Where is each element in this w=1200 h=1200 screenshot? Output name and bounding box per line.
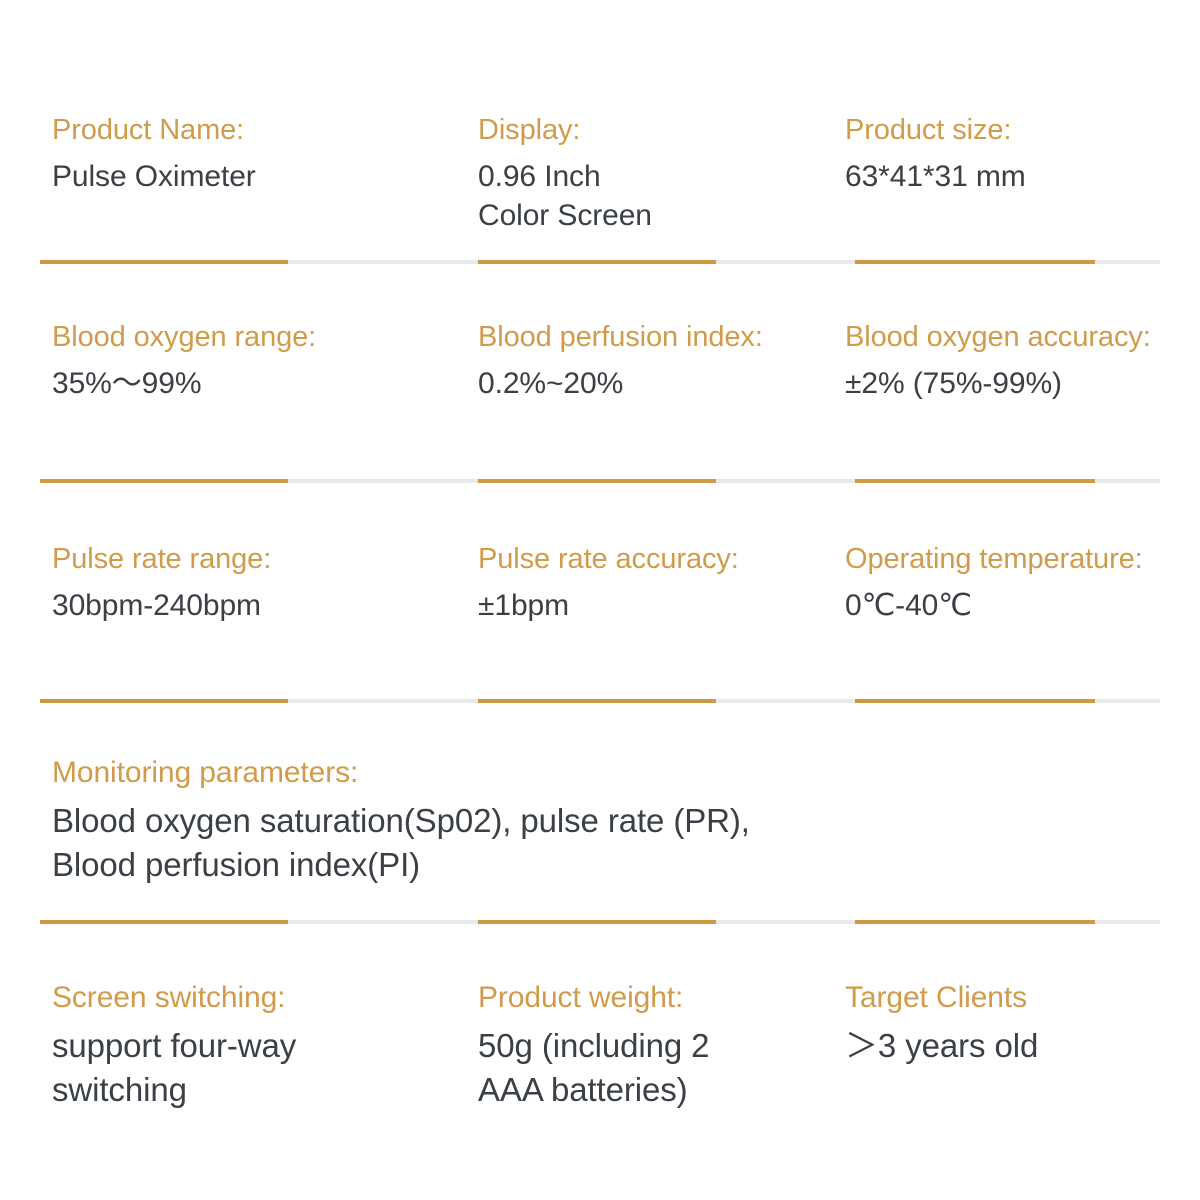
- spec-label: Pulse rate range:: [52, 541, 466, 579]
- spec-label: Pulse rate accuracy:: [478, 541, 833, 579]
- spec-row: Monitoring parameters: Blood oxygen satu…: [40, 703, 1160, 920]
- spec-cell-pulse-rate-accuracy: Pulse rate accuracy: ±1bpm: [466, 541, 833, 699]
- spec-value: 50g (including 2 AAA batteries): [478, 1024, 833, 1111]
- spec-value: support four-way switching: [52, 1024, 466, 1111]
- spec-value: 63*41*31 mm: [845, 157, 1160, 197]
- spec-value: 30bpm-240bpm: [52, 586, 466, 626]
- spec-cell-product-weight: Product weight: 50g (including 2 AAA bat…: [466, 978, 833, 1138]
- spec-label: Product size:: [845, 112, 1160, 150]
- spec-row: Screen switching: support four-way switc…: [40, 924, 1160, 1138]
- spec-label: Product weight:: [478, 978, 833, 1017]
- spec-cell-blood-perfusion-index: Blood perfusion index: 0.2%~20%: [466, 319, 833, 479]
- spec-value: Blood oxygen saturation(Sp02), pulse rat…: [52, 799, 1160, 886]
- spec-cell-blood-oxygen-range: Blood oxygen range: 35%～99%: [40, 319, 466, 479]
- spec-label: Product Name:: [52, 112, 466, 150]
- spec-label: Operating temperature:: [845, 541, 1160, 579]
- spec-cell-product-size: Product size: 63*41*31 mm: [833, 112, 1160, 260]
- spec-value: 0.2%~20%: [478, 364, 833, 404]
- spec-cell-operating-temperature: Operating temperature: 0℃-40℃: [833, 541, 1160, 699]
- spec-value: ＞3 years old: [845, 1024, 1160, 1068]
- product-specification-sheet: Product Name: Pulse Oximeter Display: 0.…: [0, 0, 1200, 1200]
- spec-value: ±1bpm: [478, 586, 833, 626]
- spec-cell-screen-switching: Screen switching: support four-way switc…: [40, 978, 466, 1138]
- spec-label: Blood oxygen range:: [52, 319, 466, 357]
- spec-label: Monitoring parameters:: [52, 753, 1160, 792]
- spec-value: 35%～99%: [52, 364, 466, 404]
- spec-row: Product Name: Pulse Oximeter Display: 0.…: [40, 0, 1160, 260]
- spec-value: ±2% (75%-99%): [845, 364, 1160, 404]
- spec-cell-pulse-rate-range: Pulse rate range: 30bpm-240bpm: [40, 541, 466, 699]
- spec-value: 0.96 Inch Color Screen: [478, 157, 833, 236]
- spec-cell-monitoring-parameters: Monitoring parameters: Blood oxygen satu…: [40, 753, 1160, 886]
- spec-cell-product-name: Product Name: Pulse Oximeter: [40, 112, 466, 260]
- spec-cell-blood-oxygen-accuracy: Blood oxygen accuracy: ±2% (75%-99%): [833, 319, 1160, 479]
- spec-label: Screen switching:: [52, 978, 466, 1017]
- spec-row: Pulse rate range: 30bpm-240bpm Pulse rat…: [40, 483, 1160, 699]
- spec-cell-display: Display: 0.96 Inch Color Screen: [466, 112, 833, 260]
- spec-value: 0℃-40℃: [845, 586, 1160, 626]
- spec-label: Target Clients: [845, 978, 1160, 1017]
- spec-label: Blood perfusion index:: [478, 319, 833, 357]
- spec-value: Pulse Oximeter: [52, 157, 466, 197]
- spec-label: Blood oxygen accuracy:: [845, 319, 1160, 357]
- spec-cell-target-clients: Target Clients ＞3 years old: [833, 978, 1160, 1138]
- spec-label: Display:: [478, 112, 833, 150]
- spec-row: Blood oxygen range: 35%～99% Blood perfus…: [40, 264, 1160, 479]
